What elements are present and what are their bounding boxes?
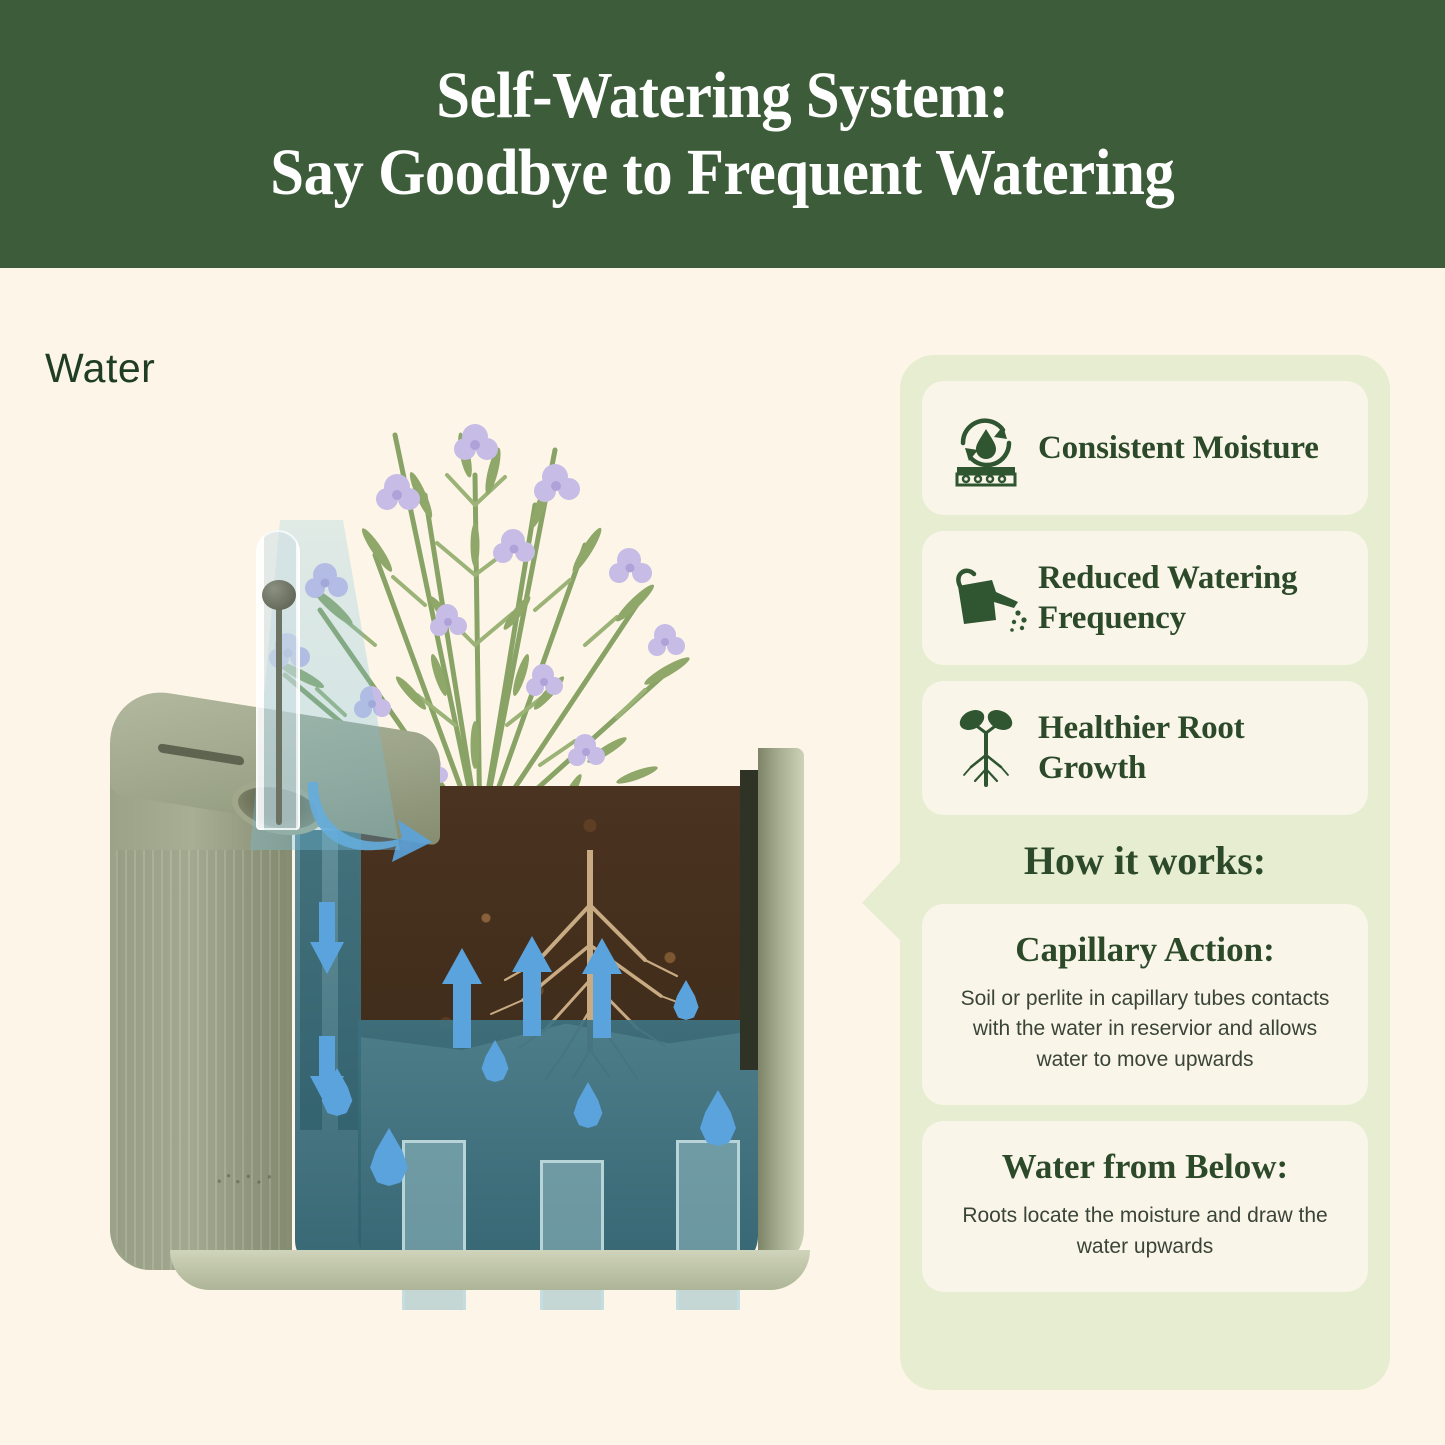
feature-card-consistent-moisture[interactable]: Consistent Moisture	[922, 381, 1368, 515]
benefits-panel: Consistent Moisture Re	[900, 355, 1390, 1390]
planter-body	[110, 690, 800, 1310]
up-arrow-2	[512, 936, 552, 1036]
feature-card-healthier-roots[interactable]: Healthier Root Growth	[922, 681, 1368, 815]
step-description-2: Roots locate the moisture and draw the w…	[946, 1201, 1344, 1262]
page-title: Self-Watering System: Say Goodbye to Fre…	[270, 60, 1174, 209]
moisture-cycle-icon	[940, 402, 1032, 494]
feature-label-2-line2: Frequency	[1038, 600, 1186, 636]
up-arrow-3	[582, 938, 622, 1038]
planter-side-texture	[116, 850, 286, 1270]
header-banner: Self-Watering System: Say Goodbye to Fre…	[0, 0, 1445, 268]
down-arrow-1	[310, 902, 344, 974]
how-it-works-title: How it works:	[922, 837, 1368, 884]
feature-label-3: Healthier Root Growth	[1032, 708, 1350, 789]
step-card-water-from-below[interactable]: Water from Below: Roots locate the moist…	[922, 1121, 1368, 1292]
feature-label-2-line1: Reduced Watering	[1038, 560, 1297, 596]
step-title-1: Capillary Action:	[946, 930, 1344, 970]
feature-label-2: Reduced Watering Frequency	[1032, 558, 1297, 639]
step-card-capillary-action[interactable]: Capillary Action: Soil or perlite in cap…	[922, 904, 1368, 1105]
planter-floor	[170, 1250, 810, 1290]
brand-logo-mark	[214, 1168, 280, 1190]
step-description-1: Soil or perlite in capillary tubes conta…	[946, 984, 1344, 1075]
seedling-roots-icon	[940, 702, 1032, 794]
title-line-2: Say Goodbye to Frequent Watering	[270, 137, 1174, 208]
planter-cutaway-illustration	[40, 290, 860, 1350]
up-arrow-1	[442, 948, 482, 1048]
infographic-page: Self-Watering System: Say Goodbye to Fre…	[0, 0, 1445, 1445]
planter-right-wall	[758, 748, 804, 1270]
title-line-1: Self-Watering System:	[270, 60, 1174, 131]
feature-card-reduced-watering[interactable]: Reduced Watering Frequency	[922, 531, 1368, 665]
watering-can-icon	[940, 552, 1032, 644]
step-title-2: Water from Below:	[946, 1147, 1344, 1187]
float-indicator-stem	[276, 595, 282, 825]
float-indicator-ball	[262, 580, 296, 610]
feature-label-1: Consistent Moisture	[1032, 428, 1319, 468]
panel-pointer-tail	[862, 858, 904, 944]
